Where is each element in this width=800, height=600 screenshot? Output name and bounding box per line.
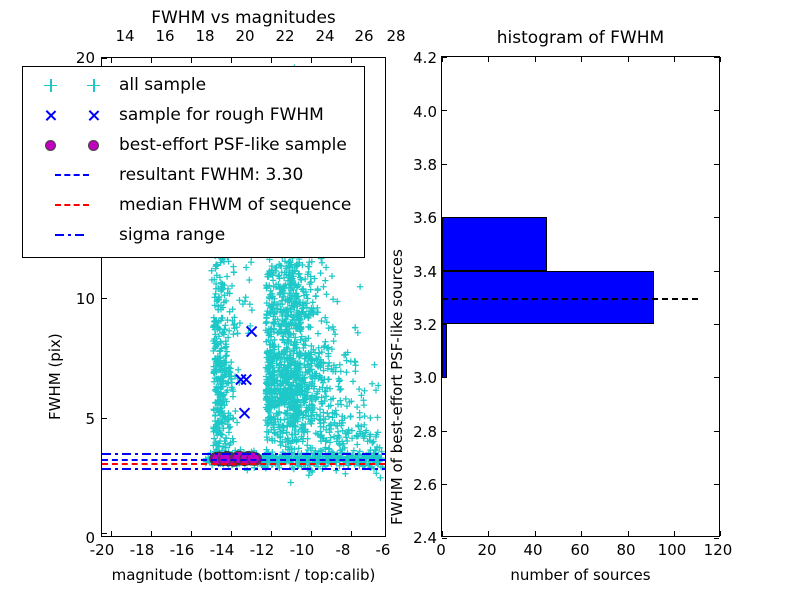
legend-key-psf-like [29, 140, 115, 151]
legend-key-resultant-fwhm [29, 174, 115, 176]
bottom-tick-label: -6 [369, 541, 397, 559]
x-tick-label: 80 [612, 541, 640, 559]
legend-label: sample for rough FWHM [115, 105, 324, 125]
plus-marker-icon [87, 79, 100, 92]
cross-marker-icon [87, 109, 100, 122]
histogram-resultant-fwhm-line [442, 298, 698, 300]
y-tick-label: 4.2 [395, 49, 437, 67]
y-tick-label: 3.8 [395, 156, 437, 174]
bottom-tick-label: -14 [206, 541, 238, 559]
legend-label: median FHWM of sequence [115, 195, 351, 215]
top-tick-label: 20 [230, 27, 260, 45]
top-tick-label: 24 [310, 27, 340, 45]
x-tick-label: 120 [701, 541, 735, 559]
legend-item-resultant-fwhm[interactable]: resultant FWHM: 3.30 [29, 160, 358, 190]
legend-item-sigma-range[interactable]: sigma range [29, 220, 358, 250]
x-tick-label: 20 [473, 541, 501, 559]
top-tick-label: 16 [150, 27, 180, 45]
x-tick-label: 100 [655, 541, 689, 559]
plus-marker-icon [44, 79, 57, 92]
y-tick-label: 4.0 [395, 103, 437, 121]
figure-canvas: FWHM vs magnitudes 14 16 18 20 22 24 26 … [0, 0, 800, 600]
median-fwhm-line [102, 463, 385, 465]
cross-marker-icon [44, 109, 57, 122]
bottom-tick-label: -16 [166, 541, 198, 559]
y-tick-label: 3.6 [395, 209, 437, 227]
top-tick-label: 22 [270, 27, 300, 45]
bottom-tick-label: -10 [286, 541, 318, 559]
histogram-layer [442, 57, 719, 536]
circle-marker-icon [88, 140, 99, 151]
sigma-range-lower-line [102, 468, 385, 470]
left-yaxis-label: FWHM (pix) [46, 333, 64, 420]
y-tick-label: 20 [63, 49, 95, 67]
bottom-tick-label: -18 [126, 541, 158, 559]
y-tick-label: 10 [63, 290, 95, 308]
top-tick-label: 18 [190, 27, 220, 45]
right-yaxis-label: FWHM of best-effort PSF-like sources [388, 249, 406, 525]
histogram-bar[interactable] [442, 324, 447, 377]
top-tick-label: 14 [110, 27, 140, 45]
legend-key-all-sample [29, 79, 115, 92]
bottom-tick-label: -8 [329, 541, 357, 559]
legend-label: sigma range [115, 225, 225, 245]
top-tick-label: 28 [381, 27, 411, 45]
legend[interactable]: all sample sample for rough FWHM best-ef… [22, 66, 365, 258]
legend-item-median-fwhm[interactable]: median FHWM of sequence [29, 190, 358, 220]
right-panel-title: histogram of FWHM [441, 28, 720, 48]
x-tick-label: 60 [566, 541, 594, 559]
dashdot-line-icon [55, 234, 89, 236]
right-plot-area[interactable] [441, 56, 720, 537]
legend-item-rough-fwhm[interactable]: sample for rough FWHM [29, 100, 358, 130]
histogram-bar[interactable] [442, 217, 547, 270]
legend-label: all sample [115, 75, 206, 95]
legend-key-sigma-range [29, 234, 115, 236]
right-xaxis-label: number of sources [441, 566, 720, 584]
bottom-tick-label: -12 [246, 541, 278, 559]
dashed-line-red-icon [55, 204, 89, 206]
legend-label: resultant FWHM: 3.30 [115, 165, 303, 185]
x-tick-label: 40 [519, 541, 547, 559]
legend-key-median-fwhm [29, 204, 115, 206]
resultant-fwhm-line [102, 459, 385, 461]
y-tick-label: 5 [63, 410, 95, 428]
circle-marker-icon [45, 140, 56, 151]
legend-label: best-effort PSF-like sample [115, 135, 347, 155]
legend-key-rough-fwhm [29, 109, 115, 122]
left-xaxis-label: magnitude (bottom:isnt / top:calib) [101, 566, 386, 584]
x-tick-label: 0 [427, 541, 455, 559]
dashed-line-icon [55, 174, 89, 176]
bottom-tick-label: -20 [86, 541, 118, 559]
top-tick-label: 26 [349, 27, 379, 45]
left-panel-title: FWHM vs magnitudes [101, 8, 386, 28]
legend-item-psf-like[interactable]: best-effort PSF-like sample [29, 130, 358, 160]
sigma-range-upper-line [102, 453, 385, 455]
legend-item-all-sample[interactable]: all sample [29, 70, 358, 100]
